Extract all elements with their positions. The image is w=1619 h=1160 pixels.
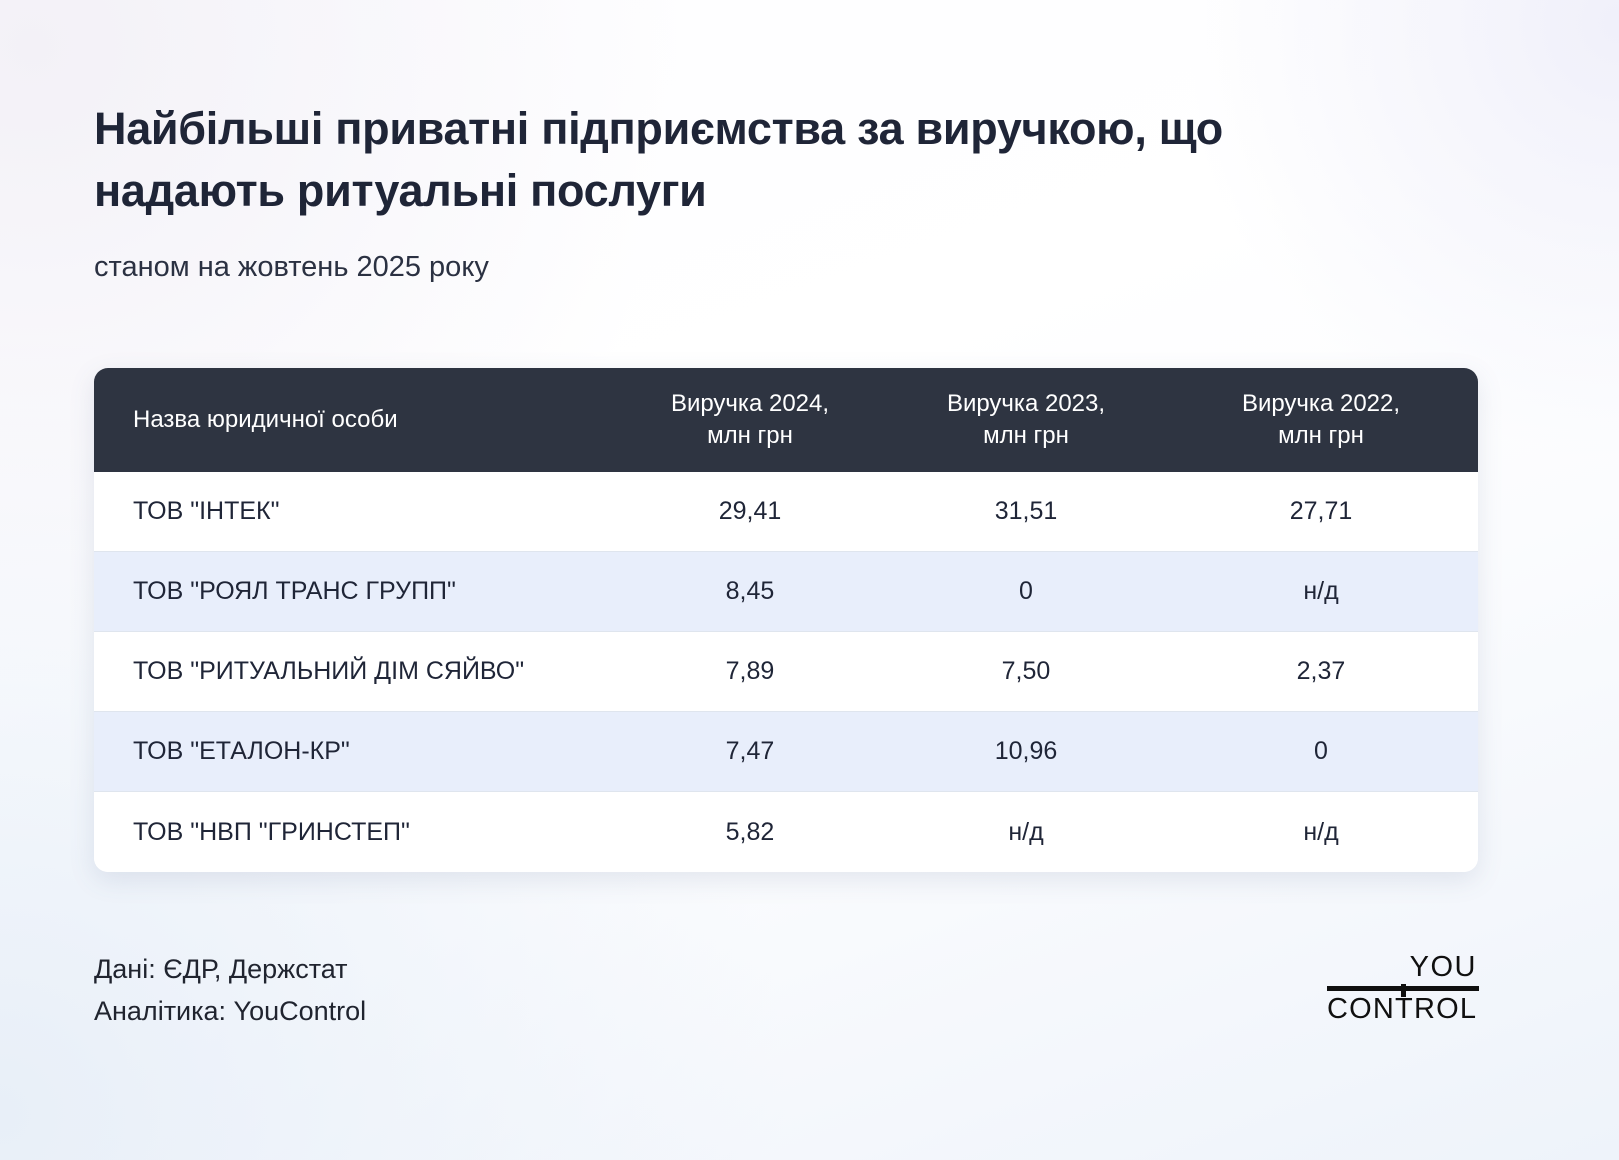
cell-revenue-2022: 0 bbox=[1164, 737, 1478, 766]
cell-revenue-2022: 27,71 bbox=[1164, 497, 1478, 526]
cell-revenue-2023: 7,50 bbox=[888, 657, 1164, 686]
table-header-row: Назва юридичної особи Виручка 2024, млн … bbox=[94, 368, 1478, 472]
cell-company-name: ТОВ "РОЯЛ ТРАНС ГРУПП" bbox=[94, 577, 612, 606]
cell-revenue-2023: 31,51 bbox=[888, 497, 1164, 526]
infographic-canvas: Найбільші приватні підприємства за вируч… bbox=[0, 0, 1619, 1160]
cell-revenue-2024: 5,82 bbox=[612, 818, 888, 847]
youcontrol-logo: YOU CONTROL bbox=[1327, 952, 1479, 1026]
column-header-revenue-2022-line2: млн грн bbox=[1164, 420, 1478, 452]
column-header-revenue-2024-line1: Виручка 2024, bbox=[612, 388, 888, 420]
column-header-revenue-2022-line1: Виручка 2022, bbox=[1164, 388, 1478, 420]
analytics-text: Аналітика: YouControl bbox=[94, 990, 366, 1032]
cell-revenue-2024: 29,41 bbox=[612, 497, 888, 526]
table-row: ТОВ "РИТУАЛЬНИЙ ДІМ СЯЙВО" 7,89 7,50 2,3… bbox=[94, 632, 1478, 712]
cell-revenue-2023: н/д bbox=[888, 818, 1164, 847]
column-header-revenue-2023-line1: Виручка 2023, bbox=[888, 388, 1164, 420]
cell-company-name: ТОВ "ІНТЕК" bbox=[94, 497, 612, 526]
logo-bottom-label: CONTROL bbox=[1327, 993, 1477, 1025]
logo-top-text: YOU bbox=[1327, 952, 1479, 983]
table-row: ТОВ "РОЯЛ ТРАНС ГРУПП" 8,45 0 н/д bbox=[94, 552, 1478, 632]
header-block: Найбільші приватні підприємства за вируч… bbox=[94, 98, 1424, 286]
table-row: ТОВ "ІНТЕК" 29,41 31,51 27,71 bbox=[94, 472, 1478, 552]
cell-company-name: ТОВ "ЕТАЛОН-КР" bbox=[94, 737, 612, 766]
cell-revenue-2023: 10,96 bbox=[888, 737, 1164, 766]
column-header-revenue-2024-line2: млн грн bbox=[612, 420, 888, 452]
cell-revenue-2023: 0 bbox=[888, 577, 1164, 606]
footer-credits: Дані: ЄДР, Держстат Аналітика: YouContro… bbox=[94, 948, 366, 1032]
cell-revenue-2022: н/д bbox=[1164, 577, 1478, 606]
column-header-revenue-2024: Виручка 2024, млн грн bbox=[612, 388, 888, 452]
column-header-revenue-2023: Виручка 2023, млн грн bbox=[888, 388, 1164, 452]
column-header-company: Назва юридичної особи bbox=[94, 404, 612, 436]
table-row: ТОВ "ЕТАЛОН-КР" 7,47 10,96 0 bbox=[94, 712, 1478, 792]
column-header-revenue-2022: Виручка 2022, млн грн bbox=[1164, 388, 1478, 452]
column-header-revenue-2023-line2: млн грн bbox=[888, 420, 1164, 452]
table-row: ТОВ "НВП "ГРИНСТЕП" 5,82 н/д н/д bbox=[94, 792, 1478, 872]
logo-bottom-text: CONTROL bbox=[1327, 993, 1479, 1026]
page-title: Найбільші приватні підприємства за вируч… bbox=[94, 98, 1424, 222]
page-subtitle: станом на жовтень 2025 року bbox=[94, 248, 1424, 286]
revenue-table: Назва юридичної особи Виручка 2024, млн … bbox=[94, 368, 1478, 872]
cell-revenue-2024: 7,89 bbox=[612, 657, 888, 686]
cell-company-name: ТОВ "РИТУАЛЬНИЙ ДІМ СЯЙВО" bbox=[94, 657, 612, 686]
cell-revenue-2024: 7,47 bbox=[612, 737, 888, 766]
logo-t-stem-icon bbox=[1401, 984, 1406, 997]
cell-revenue-2024: 8,45 bbox=[612, 577, 888, 606]
cell-revenue-2022: н/д bbox=[1164, 818, 1478, 847]
cell-company-name: ТОВ "НВП "ГРИНСТЕП" bbox=[94, 818, 612, 847]
data-source-text: Дані: ЄДР, Держстат bbox=[94, 948, 366, 990]
cell-revenue-2022: 2,37 bbox=[1164, 657, 1478, 686]
